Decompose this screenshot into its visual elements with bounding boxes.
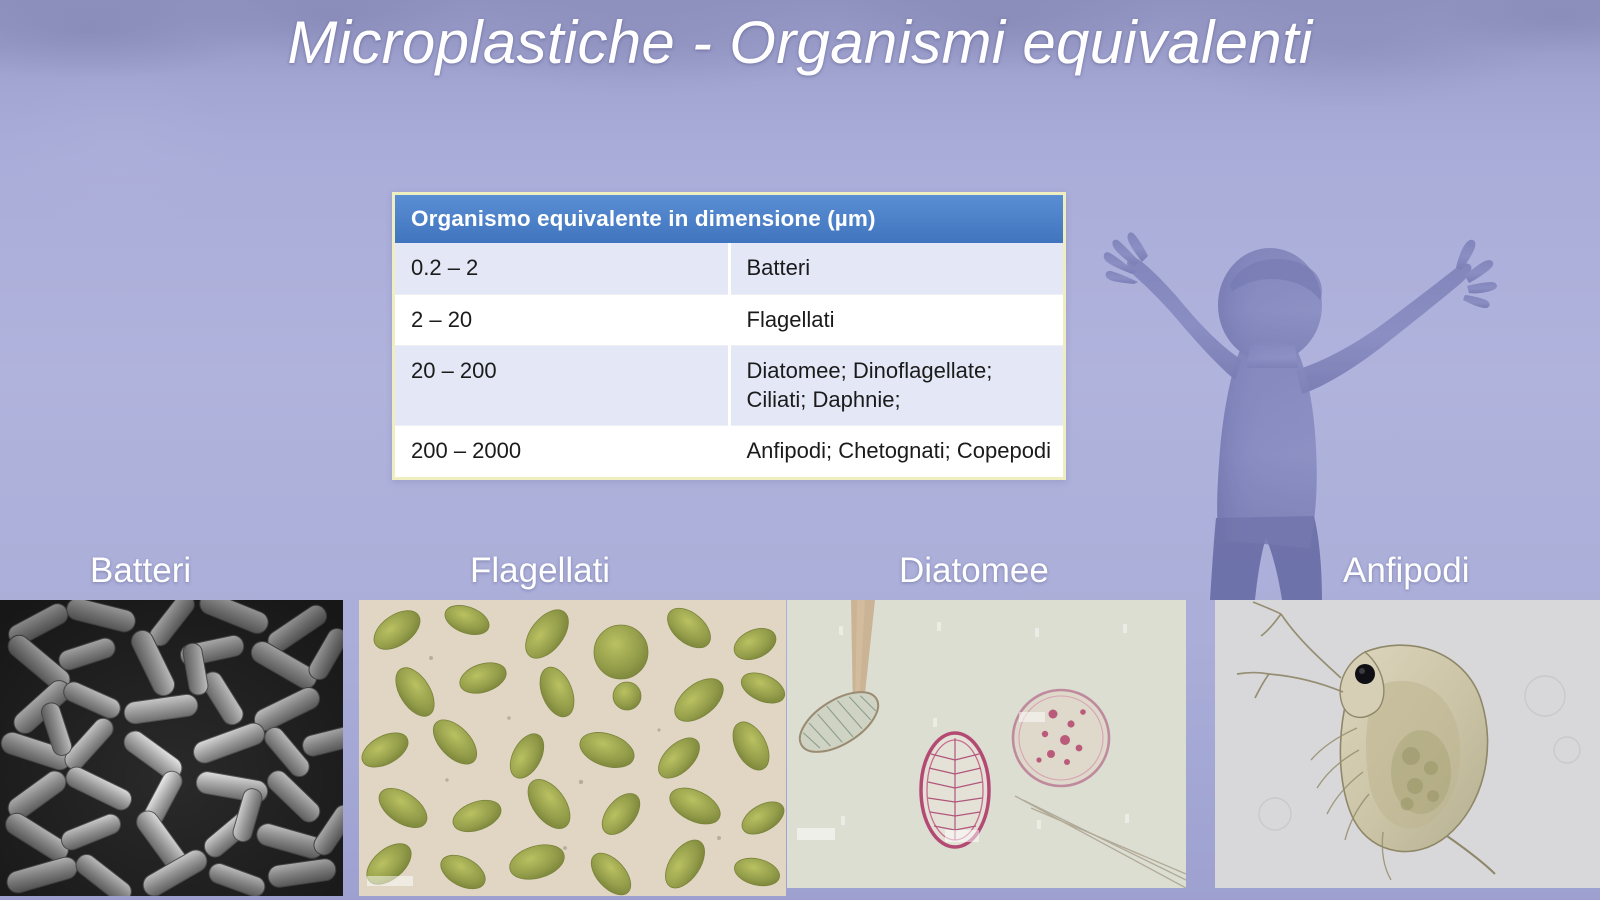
flagellates-micrograph [359, 600, 786, 896]
table-header-row: Organismo equivalente in dimensione (µm) [395, 195, 1063, 243]
cell-organism: Anfipodi; Chetognati; Copepodi [729, 426, 1063, 477]
gallery-caption-batteri: Batteri [90, 551, 191, 591]
cell-size: 20 – 200 [395, 346, 729, 426]
bacteria-sem-micrograph [0, 600, 343, 896]
table-row: 200 – 2000 Anfipodi; Chetognati; Copepod… [395, 426, 1063, 477]
table-row: 2 – 20 Flagellati [395, 294, 1063, 346]
slide-canvas: Microplastiche - Organismi equivalenti O… [0, 0, 1600, 900]
equivalent-organism-table: Organismo equivalente in dimensione (µm)… [392, 192, 1066, 480]
gallery-caption-flagellati: Flagellati [470, 551, 610, 591]
gallery-caption-anfipodi: Anfipodi [1343, 551, 1469, 591]
child-with-raised-arms-silhouette [1090, 200, 1530, 600]
cell-size: 0.2 – 2 [395, 243, 729, 294]
cell-size: 2 – 20 [395, 294, 729, 346]
cell-size: 200 – 2000 [395, 426, 729, 477]
table-row: 0.2 – 2 Batteri [395, 243, 1063, 294]
page-title: Microplastiche - Organismi equivalenti [0, 8, 1600, 77]
cell-organism: Diatomee; Dinoflagellate; Ciliati; Daphn… [729, 346, 1063, 426]
cell-organism: Batteri [729, 243, 1063, 294]
diatoms-micrograph [787, 600, 1186, 888]
table-header-label: Organismo equivalente in dimensione (µm) [395, 195, 1063, 243]
amphipod-micrograph [1215, 600, 1600, 888]
gallery-caption-diatomee: Diatomee [899, 551, 1049, 591]
cell-organism: Flagellati [729, 294, 1063, 346]
table-row: 20 – 200 Diatomee; Dinoflagellate; Cilia… [395, 346, 1063, 426]
